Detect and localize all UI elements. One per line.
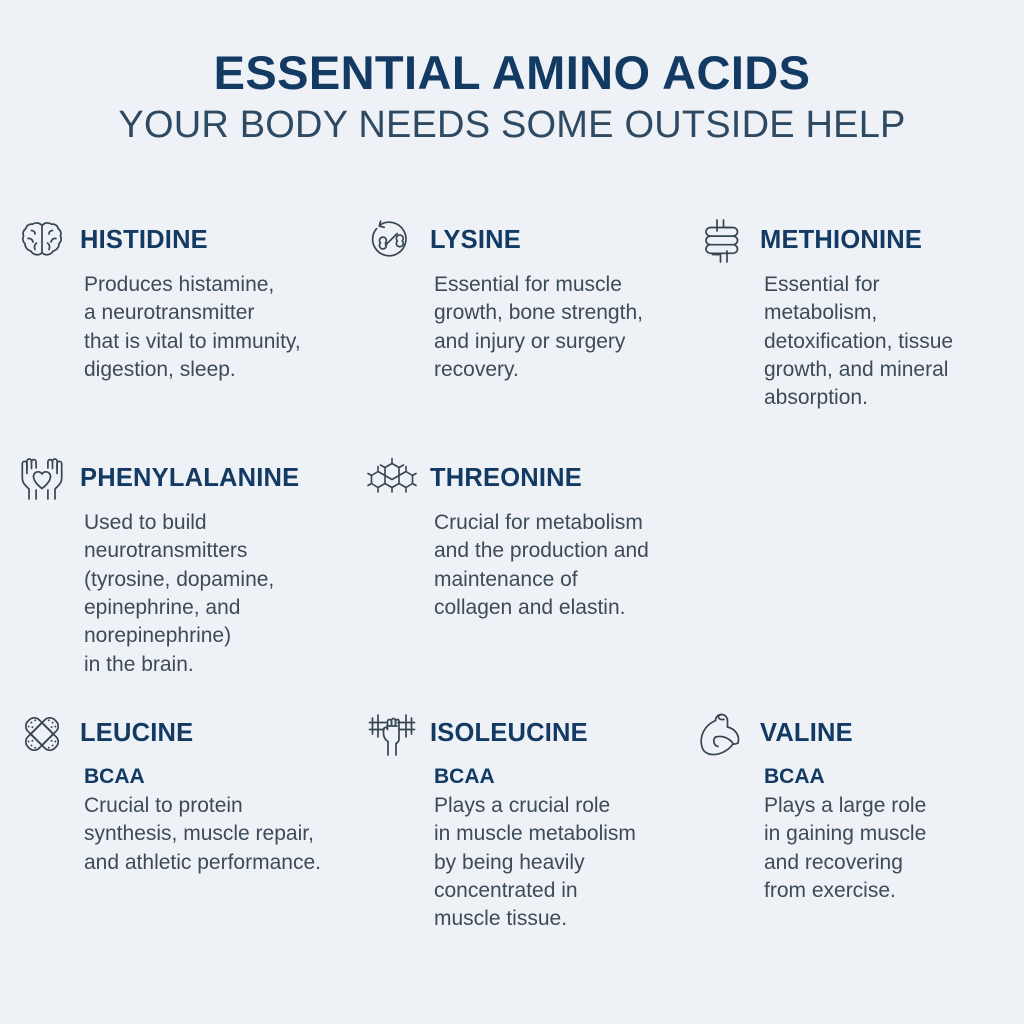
amino-acid-name: LEUCINE <box>80 721 193 747</box>
card-header: ISOLEUCINE <box>364 711 684 757</box>
infographic-page: ESSENTIAL AMINO ACIDS YOUR BODY NEEDS SO… <box>0 0 1024 1024</box>
amino-acid-card-leucine: LEUCINE BCAA Crucial to protein synthesi… <box>14 711 364 934</box>
amino-acid-description: Produces histamine, a neurotransmitter t… <box>84 271 354 384</box>
card-body: BCAA Crucial to protein synthesis, muscl… <box>84 764 354 877</box>
page-subtitle: YOUR BODY NEEDS SOME OUTSIDE HELP <box>0 104 1024 147</box>
card-header: LEUCINE <box>14 711 354 757</box>
amino-acid-description: Crucial to protein synthesis, muscle rep… <box>84 792 354 877</box>
hands-heart-icon <box>14 456 70 502</box>
card-header: THREONINE <box>364 456 684 502</box>
amino-acid-card-isoleucine: ISOLEUCINE BCAA Plays a crucial role in … <box>364 711 694 934</box>
amino-acid-description: Crucial for metabolism and the productio… <box>434 509 684 622</box>
brain-icon <box>14 218 70 264</box>
amino-acid-name: HISTIDINE <box>80 228 208 254</box>
amino-acid-description: Plays a crucial role in muscle metabolis… <box>434 792 684 934</box>
card-header: PHENYLALANINE <box>14 456 354 502</box>
amino-acid-description: Essential for muscle growth, bone streng… <box>434 271 684 384</box>
page-title: ESSENTIAL AMINO ACIDS <box>0 48 1024 98</box>
barbell-hand-icon <box>364 711 420 757</box>
flexed-bicep-icon <box>694 711 750 757</box>
amino-acid-name: PHENYLALANINE <box>80 466 299 492</box>
card-header: VALINE <box>694 711 1004 757</box>
header: ESSENTIAL AMINO ACIDS YOUR BODY NEEDS SO… <box>0 0 1024 146</box>
card-body: Essential for muscle growth, bone streng… <box>434 271 684 384</box>
card-body: Used to build neurotransmitters (tyrosin… <box>84 509 354 679</box>
amino-acid-name: THREONINE <box>430 466 582 492</box>
intestine-icon <box>694 218 750 264</box>
amino-acid-card-phenylalanine: PHENYLALANINE Used to build neurotransmi… <box>14 456 364 711</box>
amino-acid-card-empty <box>694 456 1014 711</box>
card-header: LYSINE <box>364 218 684 264</box>
amino-acid-card-threonine: THREONINE Crucial for metabolism and the… <box>364 456 694 711</box>
bcaa-label: BCAA <box>764 764 1004 791</box>
amino-acid-card-lysine: LYSINE Essential for muscle growth, bone… <box>364 218 694 456</box>
amino-acid-description: Used to build neurotransmitters (tyrosin… <box>84 509 354 679</box>
amino-acid-card-methionine: METHIONINE Essential for metabolism, det… <box>694 218 1014 456</box>
molecule-icon <box>364 456 420 502</box>
amino-acid-description: Plays a large role in gaining muscle and… <box>764 792 1004 905</box>
card-header: METHIONINE <box>694 218 1004 264</box>
amino-acid-grid: HISTIDINE Produces histamine, a neurotra… <box>14 218 1014 934</box>
amino-acid-name: LYSINE <box>430 228 521 254</box>
bcaa-label: BCAA <box>84 764 354 791</box>
card-body: BCAA Plays a crucial role in muscle meta… <box>434 764 684 934</box>
card-header: HISTIDINE <box>14 218 354 264</box>
amino-acid-name: VALINE <box>760 721 853 747</box>
card-body: Essential for metabolism, detoxification… <box>764 271 1004 413</box>
amino-acid-card-valine: VALINE BCAA Plays a large role in gainin… <box>694 711 1014 934</box>
card-body: BCAA Plays a large role in gaining muscl… <box>764 764 1004 905</box>
amino-acid-description: Essential for metabolism, detoxification… <box>764 271 1004 413</box>
card-body: Crucial for metabolism and the productio… <box>434 509 684 622</box>
amino-acid-name: METHIONINE <box>760 228 922 254</box>
bcaa-label: BCAA <box>434 764 684 791</box>
card-body: Produces histamine, a neurotransmitter t… <box>84 271 354 384</box>
amino-acid-name: ISOLEUCINE <box>430 721 588 747</box>
crossed-bandages-icon <box>14 711 70 757</box>
amino-acid-card-histidine: HISTIDINE Produces histamine, a neurotra… <box>14 218 364 456</box>
bone-recovery-icon <box>364 218 420 264</box>
